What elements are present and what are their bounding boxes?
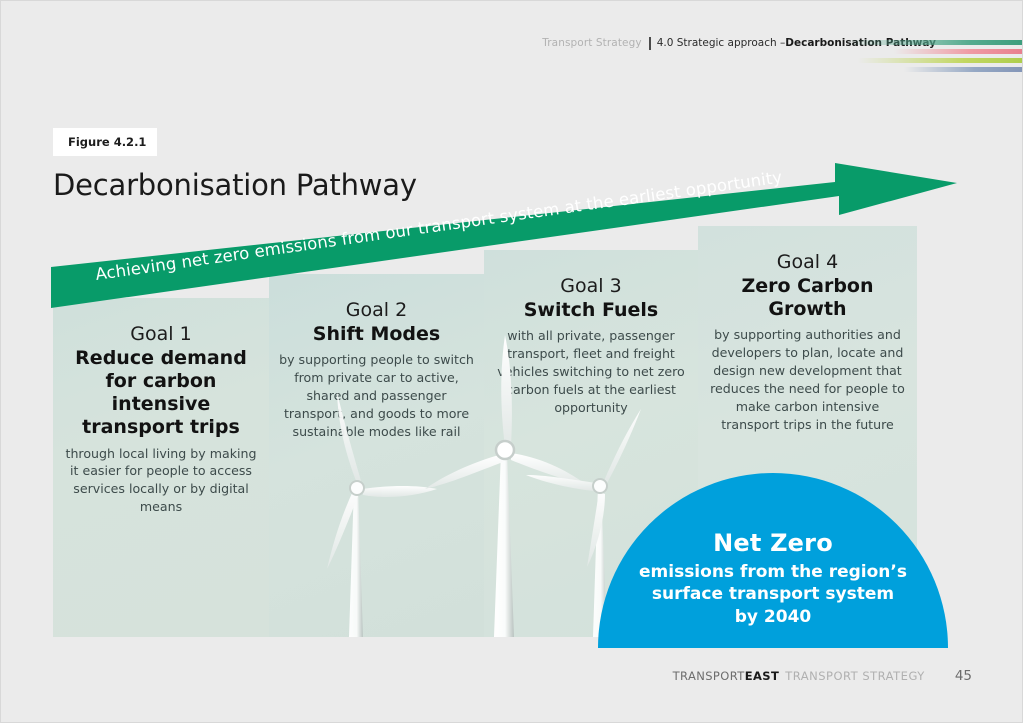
figure-page: Transport Strategy 4.0 Strategic approac… [0,0,1023,723]
page-title: Decarbonisation Pathway [53,168,417,202]
net-zero-line-1: emissions from the region’s [639,561,907,584]
brand-transport: TRANSPORT [673,669,745,683]
goal-4-description: by supporting authorities and developers… [706,326,909,433]
footer-strategy-label: TRANSPORT STRATEGY [785,669,925,683]
stripe-blue [904,67,1022,72]
brand-east: EAST [745,669,779,683]
goal-3-name: Switch Fuels [524,299,659,322]
goal-4-name: Zero Carbon Growth [706,275,909,321]
goal-2-description: by supporting people to switch from priv… [277,351,476,440]
breadcrumb-current: Decarbonisation Pathway [785,37,936,49]
goal-4-number: Goal 4 [777,252,838,274]
breadcrumb-document: Transport Strategy [542,37,641,49]
net-zero-title: Net Zero [713,530,833,556]
page-number: 45 [955,668,972,684]
goal-2-number: Goal 2 [346,300,407,322]
page-header: Transport Strategy 4.0 Strategic approac… [1,34,1023,52]
goal-1-name: Reduce demand for carbon intensive trans… [61,347,261,440]
goal-1-number: Goal 1 [130,324,191,346]
goal-2-name: Shift Modes [313,323,440,346]
goal-column-2: Goal 2 Shift Modes by supporting people … [269,274,484,637]
page-footer: TRANSPORT EAST TRANSPORT STRATEGY 45 [1,668,1023,684]
goal-column-1: Goal 1 Reduce demand for carbon intensiv… [53,298,269,637]
net-zero-line-2: surface transport system [652,583,894,606]
goal-3-number: Goal 3 [560,276,621,298]
figure-label: Figure 4.2.1 [53,128,157,156]
breadcrumb-section: 4.0 Strategic approach – [657,37,786,49]
net-zero-line-3: by 2040 [735,606,811,629]
goal-3-description: with all private, passenger transport, f… [492,327,690,416]
decarbonisation-diagram: Goal 1 Reduce demand for carbon intensiv… [53,217,953,637]
stripe-lime [858,58,1022,63]
goal-1-description: through local living by making it easier… [61,445,261,517]
breadcrumb-separator [649,37,651,50]
